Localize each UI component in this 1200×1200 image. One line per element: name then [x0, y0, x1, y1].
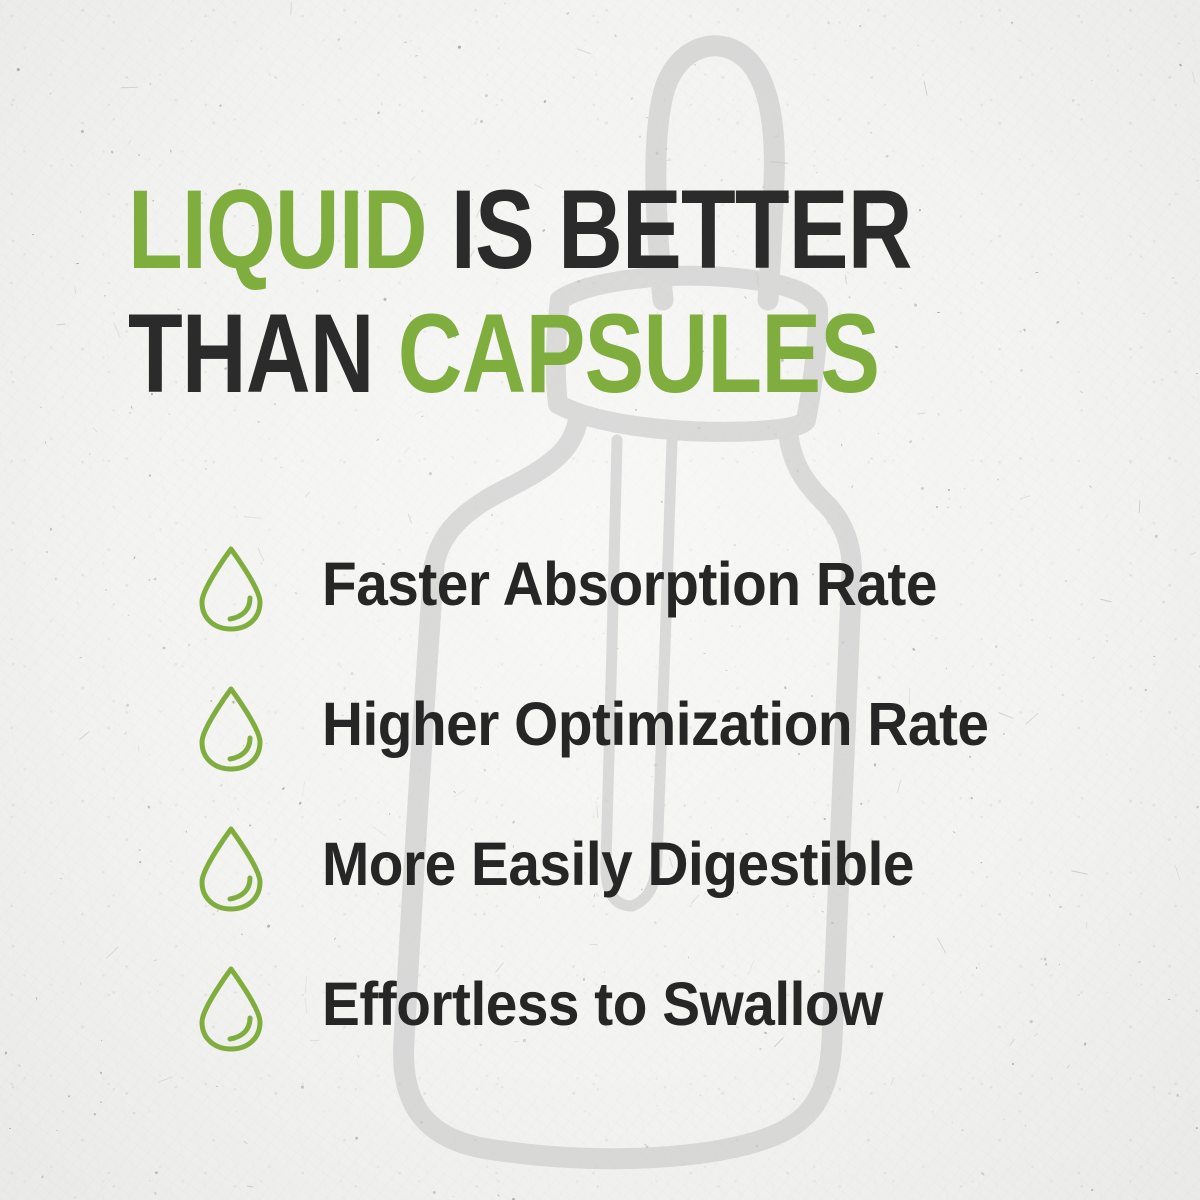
- list-item: Effortless to Swallow: [196, 956, 1096, 1096]
- headline-word-capsules: CAPSULES: [398, 291, 880, 416]
- headline-words-is-better: IS BETTER: [451, 167, 912, 292]
- water-drop-icon: [196, 684, 266, 772]
- list-item: Faster Absorption Rate: [196, 536, 1096, 676]
- benefit-label: Effortless to Swallow: [322, 956, 883, 1052]
- water-drop-icon: [196, 824, 266, 912]
- benefit-label: Faster Absorption Rate: [322, 536, 937, 632]
- headline-line-2: THAN CAPSULES: [128, 292, 896, 416]
- benefit-label: Higher Optimization Rate: [322, 676, 989, 772]
- water-drop-icon: [196, 544, 266, 632]
- headline-word-liquid: LIQUID: [128, 167, 427, 292]
- headline: LIQUID IS BETTER THAN CAPSULES: [128, 168, 1088, 416]
- headline-line-1: LIQUID IS BETTER: [128, 168, 896, 292]
- benefit-label: More Easily Digestible: [322, 816, 914, 912]
- list-item: More Easily Digestible: [196, 816, 1096, 956]
- headline-word-than: THAN: [128, 291, 374, 416]
- list-item: Higher Optimization Rate: [196, 676, 1096, 816]
- benefits-list: Faster Absorption Rate Higher Optimizati…: [196, 536, 1096, 1096]
- water-drop-icon: [196, 964, 266, 1052]
- infographic-poster: LIQUID IS BETTER THAN CAPSULES Faster Ab…: [0, 0, 1200, 1200]
